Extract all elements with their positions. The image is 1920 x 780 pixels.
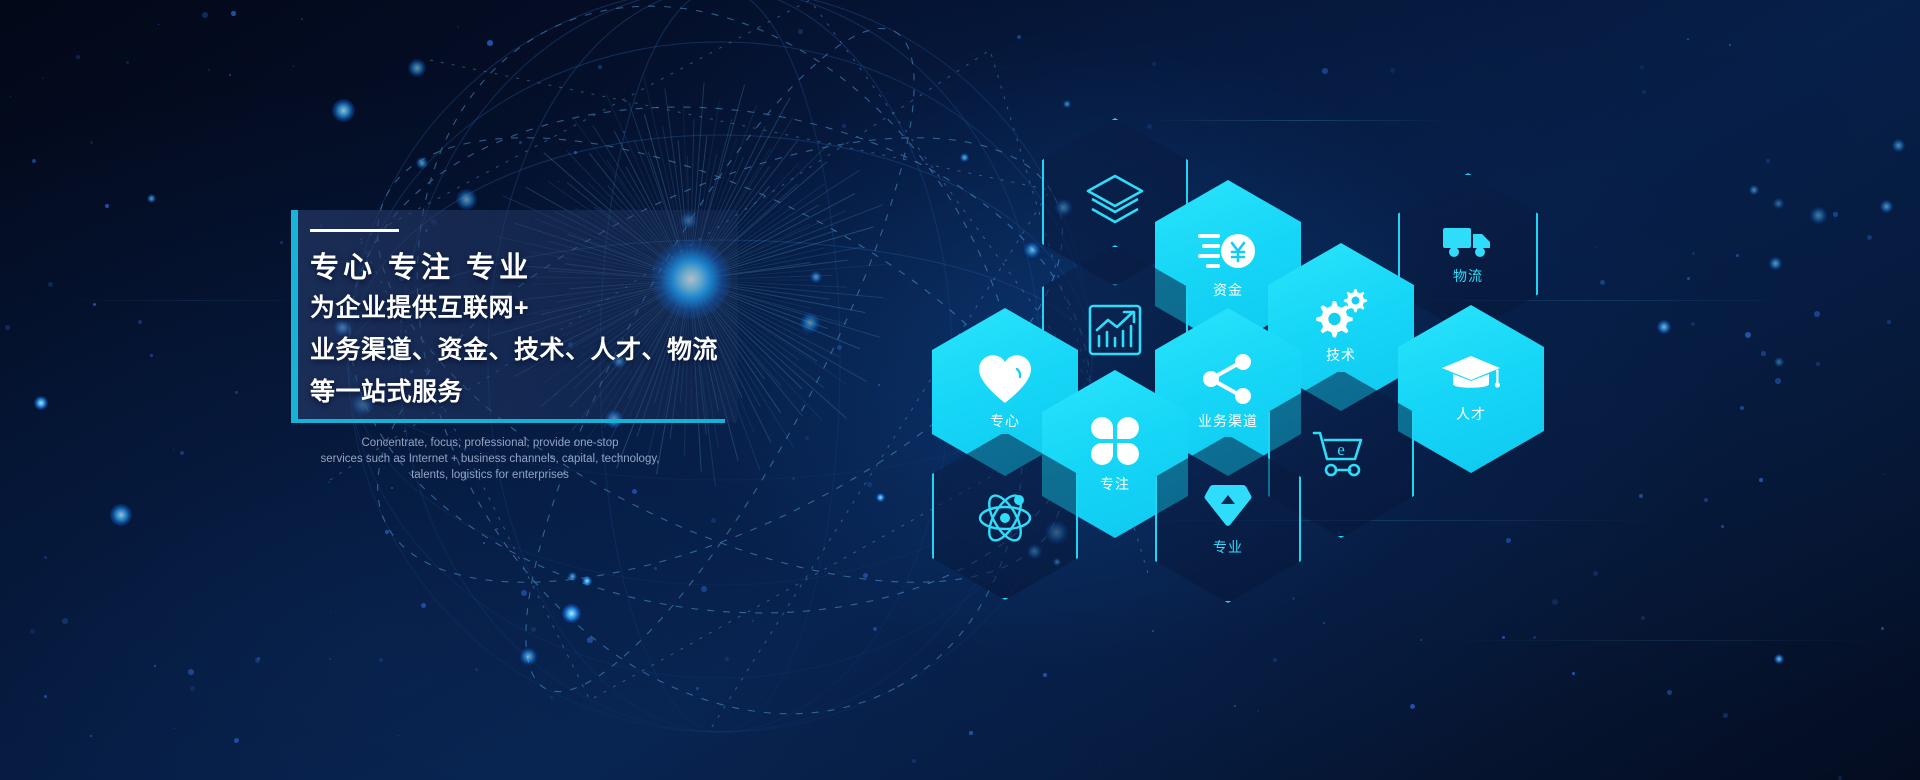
hex-focus-label: 专注: [1100, 474, 1130, 494]
panel-underline: [291, 419, 725, 423]
truck-icon: [1441, 222, 1495, 260]
english-line-1: Concentrate, focus, professional, provid…: [210, 435, 770, 451]
heart-icon: [977, 353, 1033, 405]
scanline: [1450, 640, 1880, 641]
layers-icon: [1084, 173, 1146, 231]
hex-pro-label: 专业: [1213, 537, 1243, 557]
hex-heart-label: 专心: [990, 411, 1020, 431]
diamond-icon: [1203, 481, 1253, 531]
shopping-cart-e-icon: e: [1310, 428, 1372, 480]
money-yen-icon: [1198, 228, 1258, 274]
hex-channel-label: 业务渠道: [1198, 411, 1258, 431]
hex-logistics-label: 物流: [1453, 266, 1483, 286]
hex-capital-label: 资金: [1213, 280, 1243, 300]
subline-2: 业务渠道、资金、技术、人才、物流: [310, 330, 718, 366]
clover-icon: [1088, 414, 1142, 468]
gears-icon: [1313, 289, 1369, 339]
english-line-3: talents, logistics for enterprises: [210, 467, 770, 483]
scanline: [1150, 120, 1450, 121]
headline: 专心 专注 专业: [310, 244, 532, 286]
hex-talent-label: 人才: [1456, 404, 1486, 424]
growth-chart-icon: [1086, 300, 1144, 358]
scanline: [60, 300, 320, 301]
title-rule: [310, 229, 399, 232]
atom-icon: [976, 488, 1034, 544]
english-line-2: services such as Internet + business cha…: [210, 451, 770, 467]
graduation-cap-icon: [1441, 354, 1501, 398]
hex-tech-label: 技术: [1326, 345, 1356, 365]
subline-1: 为企业提供互联网+: [310, 288, 529, 324]
svg-text:e: e: [1337, 440, 1345, 459]
hero-banner: 专心 专注 专业 为企业提供互联网+ 业务渠道、资金、技术、人才、物流 等一站式…: [0, 0, 1920, 780]
subline-3: 等一站式服务: [310, 372, 463, 408]
share-network-icon: [1201, 353, 1255, 405]
panel-accent-bar: [291, 210, 298, 422]
